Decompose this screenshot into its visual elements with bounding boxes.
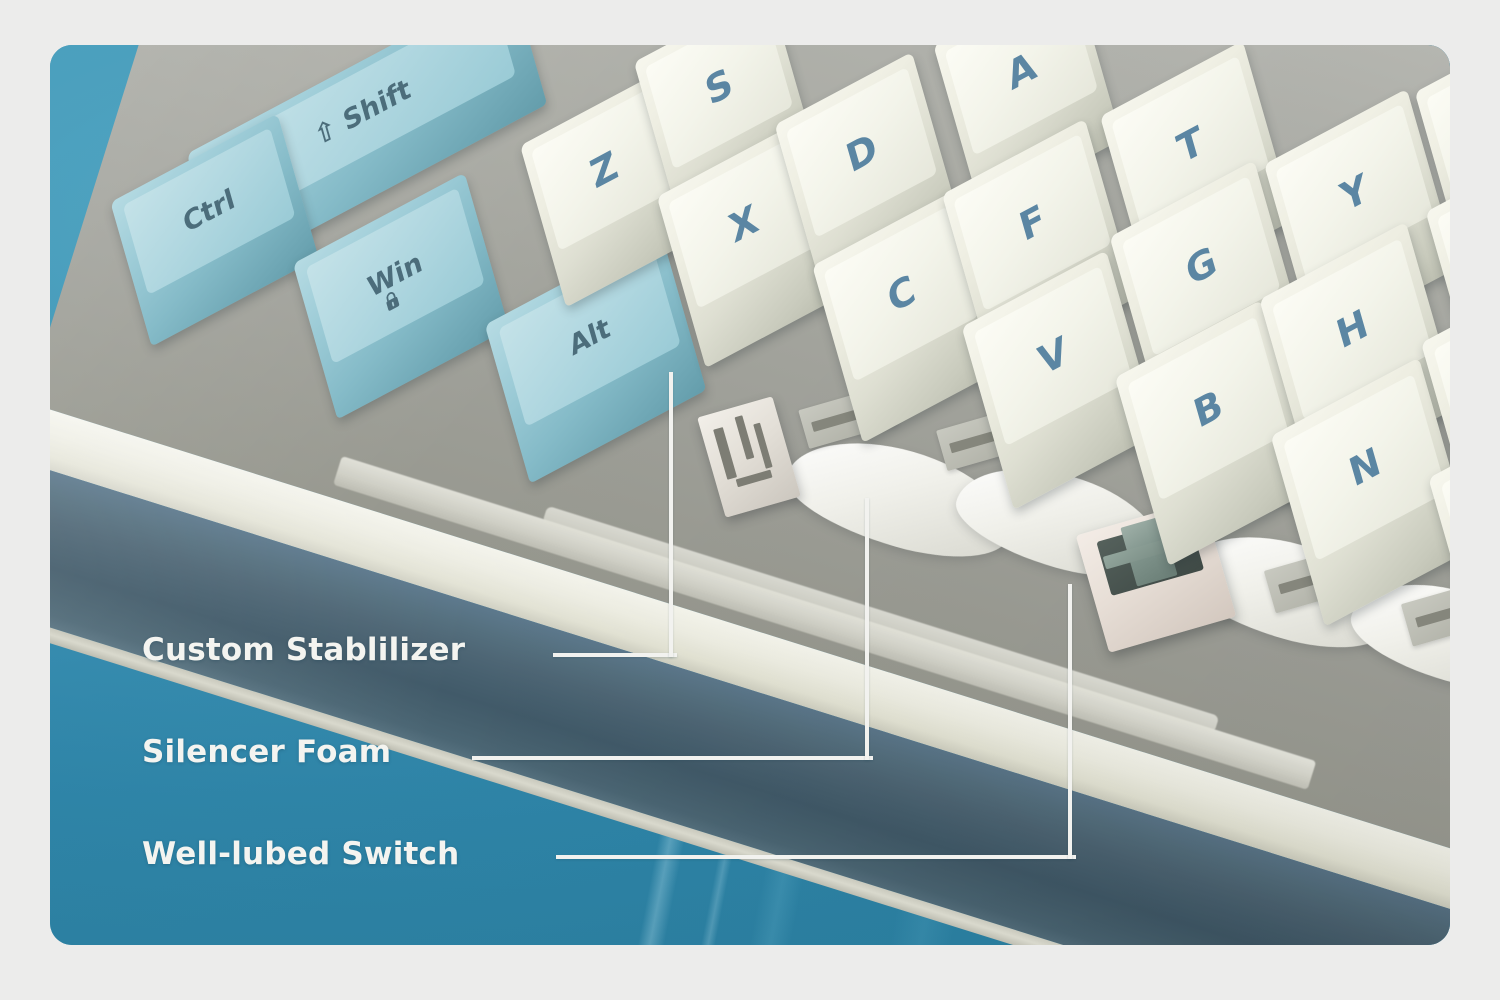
screenshot-root: ⇧ ShiftCtrlWinAltZSXDCAFVTGBYHN7UJM Cust… [0,0,1500,1000]
callout-leader-horizontal-custom-stabilizer [553,653,677,657]
keycap-legend: H [1333,303,1372,355]
keycap-legend: C [884,269,920,319]
product-feature-card: ⇧ ShiftCtrlWinAltZSXDCAFVTGBYHN7UJM Cust… [50,45,1450,945]
keycap-legend: S [701,62,736,112]
keycap-legend: A [1003,45,1040,96]
keycap-legend: T [1173,120,1207,169]
stabilizer-slot [753,423,772,469]
keycap-legend: Y [1337,168,1372,218]
callout-label-well-lubed-switch: Well-lubed Switch [142,836,459,872]
keycap-legend: B [1190,383,1227,433]
keycap-legend: V [1035,331,1072,382]
keycap-legend: F [1015,198,1049,247]
keycap-legend: D [842,127,881,179]
callout-leader-vertical-silencer-foam [865,498,869,760]
keycap-legend: Z [586,145,621,195]
callout-label-custom-stabilizer: Custom Stablilizer [142,632,465,668]
keycap-legend: G [1182,241,1221,293]
callout-label-silencer-foam: Silencer Foam [142,734,391,770]
keycap-legend: Ctrl [180,185,237,237]
stabilizer-slot [713,427,737,480]
callout-leader-horizontal-well-lubed-switch [556,855,1076,859]
callout-leader-horizontal-silencer-foam [472,756,873,760]
socket-bar [1415,596,1450,628]
stabilizer-slot [735,415,755,460]
stabilizer-slot [736,470,773,488]
keycap-legend: X [725,198,762,249]
callout-leader-vertical-custom-stabilizer [669,372,673,657]
keycap-legend: ⇧ Shift [311,75,413,151]
callout-leader-vertical-well-lubed-switch [1068,584,1072,859]
keycap-legend: N [1345,441,1384,493]
keycap-legend: Alt [566,314,612,361]
